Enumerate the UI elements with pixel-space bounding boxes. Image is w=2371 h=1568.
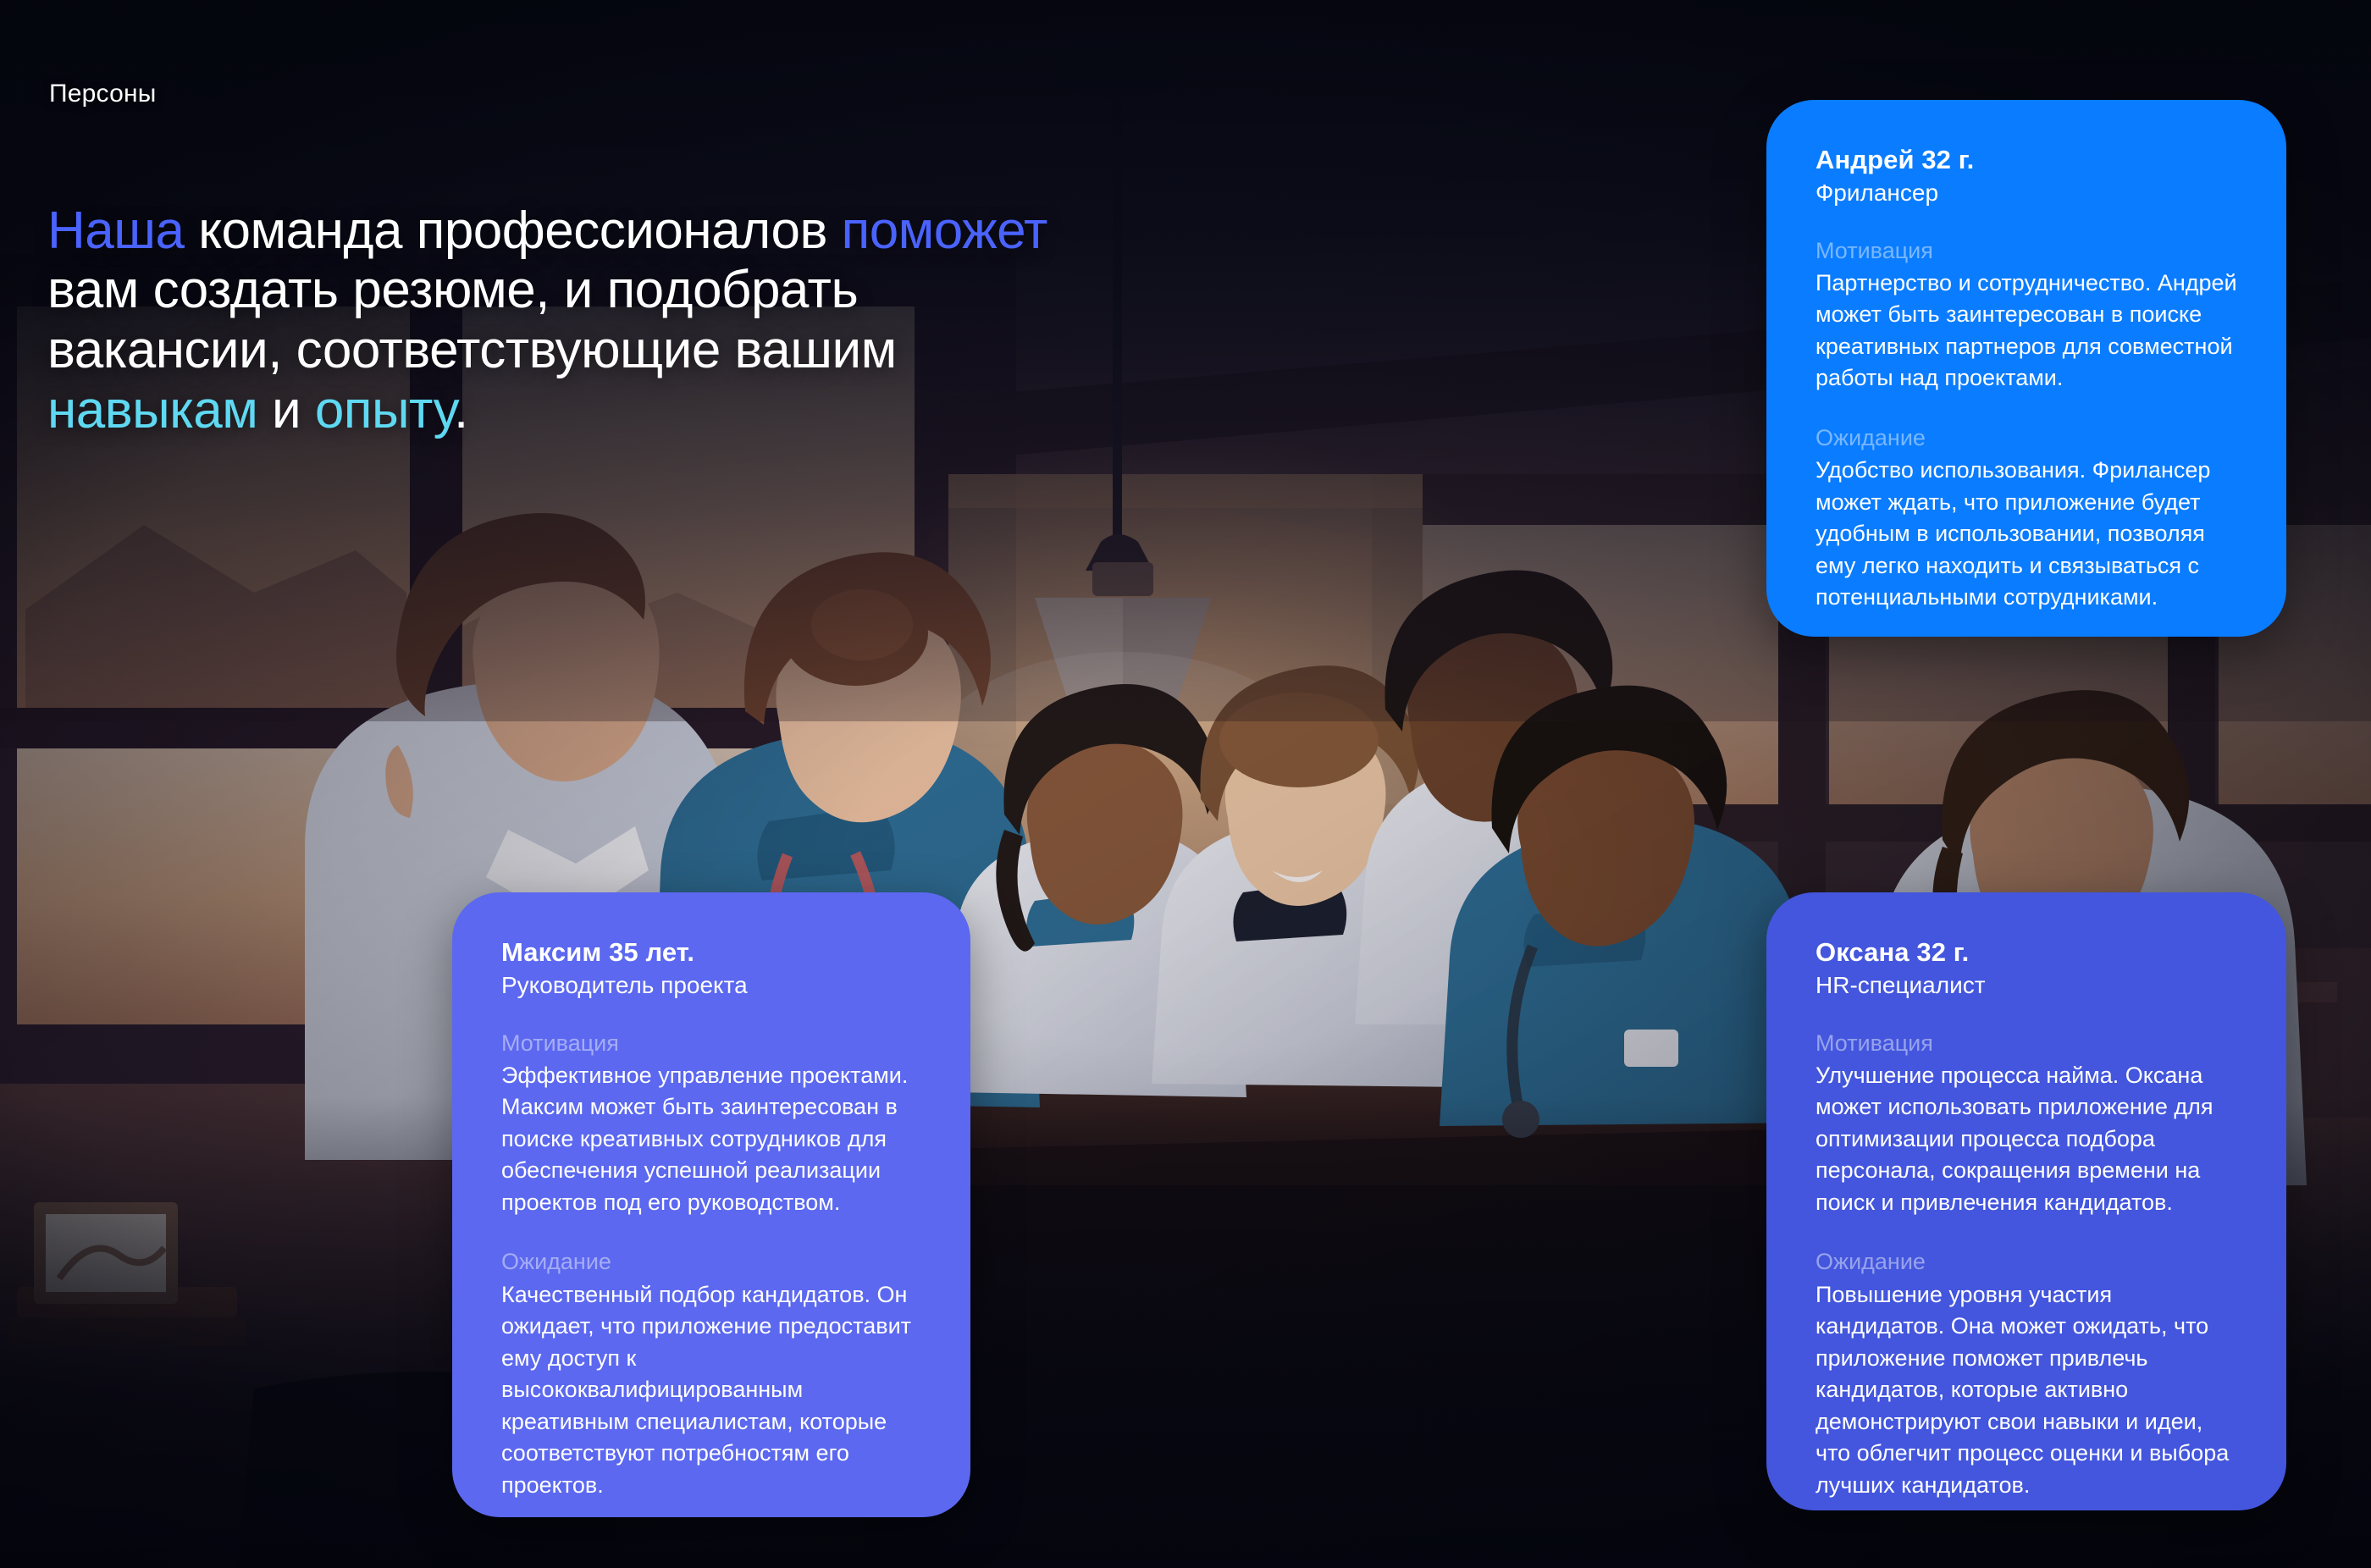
expectation-label: Ожидание — [1816, 1247, 2237, 1277]
headline-accent-navykam: навыкам — [47, 381, 257, 439]
motivation-label: Мотивация — [1816, 1029, 2237, 1058]
persona-role: Фрилансер — [1816, 178, 2237, 207]
headline-period: . — [454, 381, 468, 439]
page-title: Наша команда профессионалов поможет вам … — [47, 202, 1368, 441]
expectation-label: Ожидание — [1816, 423, 2237, 453]
headline-text-4: и — [257, 381, 315, 439]
persona-role: HR-специалист — [1816, 970, 2237, 1000]
persona-name: Максим 35 лет. — [501, 936, 921, 969]
headline-accent-pomozhet: поможет — [842, 202, 1047, 260]
headline-text-2: вам создать резюме, и подобрать — [47, 261, 858, 319]
headline-text-1: команда профессионалов — [184, 202, 841, 260]
persona-name: Андрей 32 г. — [1816, 144, 2237, 176]
expectation-body: Удобство использования. Фрилансер может … — [1816, 455, 2237, 614]
expectation-label: Ожидание — [501, 1247, 921, 1277]
headline-text-3: вакансии, соответствующие вашим — [47, 321, 897, 379]
page-eyebrow-label: Персоны — [49, 80, 156, 108]
persona-card-maksim[interactable]: Максим 35 лет. Руководитель проекта Моти… — [452, 892, 970, 1517]
persona-card-oksana[interactable]: Оксана 32 г. HR-специалист Мотивация Улу… — [1766, 892, 2286, 1510]
motivation-body: Улучшение процесса найма. Оксана может и… — [1816, 1060, 2237, 1219]
motivation-label: Мотивация — [1816, 236, 2237, 266]
persona-role: Руководитель проекта — [501, 970, 921, 1000]
persona-name: Оксана 32 г. — [1816, 936, 2237, 969]
motivation-body: Партнерство и сотрудничество. Андрей мож… — [1816, 268, 2237, 395]
slide-persona: Персоны Наша команда профессионалов помо… — [0, 0, 2371, 1568]
headline-accent-nasha: Наша — [47, 202, 184, 260]
expectation-body: Качественный подбор кандидатов. Он ожида… — [501, 1279, 921, 1502]
motivation-label: Мотивация — [501, 1029, 921, 1058]
persona-card-andrey[interactable]: Андрей 32 г. Фрилансер Мотивация Партнер… — [1766, 100, 2286, 637]
expectation-body: Повышение уровня участия кандидатов. Она… — [1816, 1279, 2237, 1502]
motivation-body: Эффективное управление проектами. Максим… — [501, 1060, 921, 1219]
headline-accent-opytu: опыту — [315, 381, 454, 439]
